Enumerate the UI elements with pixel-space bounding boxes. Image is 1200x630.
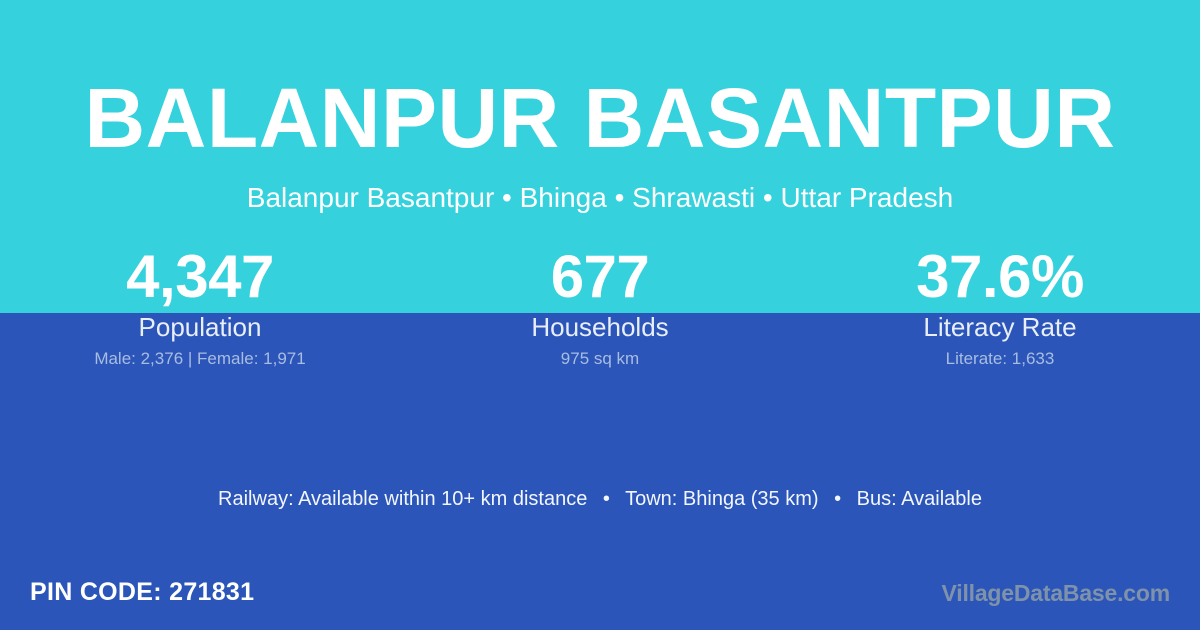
- railway-info: Railway: Available within 10+ km distanc…: [218, 488, 587, 510]
- stat-literacy-rate: 37.6% Literacy Rate Literate: 1,633: [800, 246, 1200, 369]
- stat-value: 37.6%: [800, 246, 1200, 308]
- stat-subtext: 975 sq km: [400, 349, 800, 369]
- town-info: Town: Bhinga (35 km): [625, 488, 818, 510]
- pin-code: PIN CODE: 271831: [30, 575, 254, 609]
- bus-info: Bus: Available: [857, 488, 982, 510]
- breadcrumb: Balanpur Basantpur • Bhinga • Shrawasti …: [0, 182, 1200, 214]
- stat-value: 4,347: [0, 246, 400, 308]
- stat-label: Population: [0, 312, 400, 342]
- connectivity-info-bar: Railway: Available within 10+ km distanc…: [0, 485, 1200, 513]
- stat-households: 677 Households 975 sq km: [400, 246, 800, 369]
- stats-row: 4,347 Population Male: 2,376 | Female: 1…: [0, 246, 1200, 369]
- page-title: BALANPUR BASANTPUR: [0, 76, 1200, 160]
- stat-population: 4,347 Population Male: 2,376 | Female: 1…: [0, 246, 400, 369]
- village-info-card: BALANPUR BASANTPUR Balanpur Basantpur • …: [0, 0, 1200, 630]
- stat-label: Households: [400, 312, 800, 342]
- card-header: BALANPUR BASANTPUR Balanpur Basantpur • …: [0, 0, 1200, 214]
- stat-value: 677: [400, 246, 800, 308]
- card-footer: PIN CODE: 271831 VillageDataBase.com: [0, 575, 1200, 615]
- stat-subtext: Literate: 1,633: [800, 349, 1200, 369]
- bullet-separator-icon: •: [593, 485, 620, 513]
- bullet-separator-icon: •: [824, 485, 851, 513]
- site-brand: VillageDataBase.com: [942, 577, 1170, 609]
- stat-label: Literacy Rate: [800, 312, 1200, 342]
- stat-subtext: Male: 2,376 | Female: 1,971: [0, 349, 400, 369]
